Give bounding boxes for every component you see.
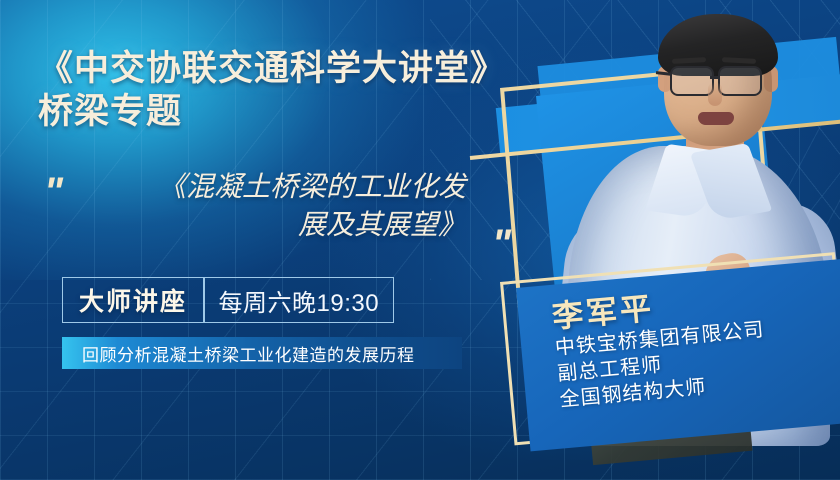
- speaker-mouth: [698, 112, 734, 125]
- tagline-text: 回顾分析混凝土桥梁工业化建造的发展历程: [62, 341, 415, 366]
- glasses-lens-right-icon: [718, 66, 762, 96]
- topic-title: 《混凝土桥梁的工业化发 展及其展望》: [40, 168, 510, 244]
- topic-quote: " 《混凝土桥梁的工业化发 展及其展望》 ": [40, 168, 510, 244]
- speaker-details: 李军平 中铁宝桥集团有限公司 副总工程师 全国钢结构大师: [524, 263, 840, 452]
- lecture-info-bar: 大师讲座 每周六晚19:30: [62, 277, 394, 323]
- lecture-schedule: 每周六晚19:30: [205, 278, 394, 322]
- glasses-bridge-icon: [710, 76, 720, 79]
- tagline-bar: 回顾分析混凝土桥梁工业化建造的发展历程: [62, 337, 462, 369]
- quote-mark-close: ": [492, 224, 511, 264]
- lecture-badge-label: 大师讲座: [63, 278, 203, 322]
- series-title-line-2: 桥梁专题: [38, 90, 506, 133]
- topic-title-line-1: 《混凝土桥梁的工业化发: [96, 168, 466, 206]
- poster-canvas: 《中交协联交通科学大讲堂》 桥梁专题 " 《混凝土桥梁的工业化发 展及其展望》 …: [0, 0, 840, 480]
- topic-title-line-2: 展及其展望》: [96, 206, 466, 244]
- speaker-nose: [708, 82, 722, 106]
- series-title-line-1: 《中交协联交通科学大讲堂》: [38, 47, 506, 90]
- series-title: 《中交协联交通科学大讲堂》 桥梁专题: [38, 47, 506, 133]
- quote-mark-open: ": [44, 172, 63, 212]
